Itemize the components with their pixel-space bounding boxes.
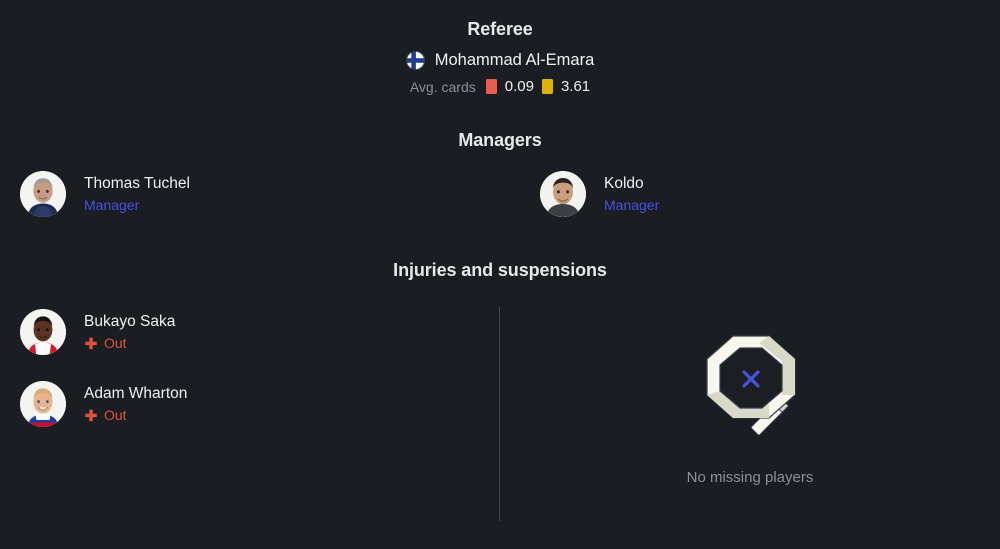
injured-player-name: Bukayo Saka xyxy=(84,312,175,331)
yellow-card-icon xyxy=(542,79,553,94)
injury-cross-icon xyxy=(84,337,98,351)
injured-player-row[interactable]: Bukayo Saka Out xyxy=(20,309,175,355)
injured-player-row[interactable]: Adam Wharton Out xyxy=(20,381,187,427)
avg-cards-label: Avg. cards xyxy=(410,79,476,95)
yellow-card-value: 3.61 xyxy=(561,78,590,95)
injured-player-name: Adam Wharton xyxy=(84,384,187,403)
injured-player-text: Adam Wharton Out xyxy=(84,384,187,424)
no-missing-players-empty-state: No missing players xyxy=(500,305,1000,525)
lineups-info-page: Referee Mohammad Al-Emara Avg. cards 0.0… xyxy=(0,0,1000,549)
manager-away-role[interactable]: Manager xyxy=(604,197,659,214)
injury-cross-icon xyxy=(84,409,98,423)
referee-name-row[interactable]: Mohammad Al-Emara xyxy=(0,51,1000,70)
red-card-icon xyxy=(486,79,497,94)
manager-away-name: Koldo xyxy=(604,174,659,193)
manager-home-text: Thomas Tuchel Manager xyxy=(84,174,190,214)
injured-player-text: Bukayo Saka Out xyxy=(84,312,175,352)
finland-flag-icon xyxy=(406,51,425,70)
referee-name: Mohammad Al-Emara xyxy=(435,51,595,70)
referee-avg-cards-row: Avg. cards 0.09 3.61 xyxy=(0,78,1000,95)
red-card-value: 0.09 xyxy=(505,78,534,95)
injured-player-avatar xyxy=(20,309,66,355)
injured-player-status: Out xyxy=(84,335,175,352)
manager-home-row[interactable]: Thomas Tuchel Manager xyxy=(20,171,190,217)
manager-home-avatar xyxy=(20,171,66,217)
no-missing-players-label: No missing players xyxy=(687,469,814,486)
injured-player-status: Out xyxy=(84,407,187,424)
magnifier-no-results-icon xyxy=(685,331,815,451)
manager-away-text: Koldo Manager xyxy=(604,174,659,214)
referee-section-heading: Referee xyxy=(0,19,1000,40)
injured-player-status-label: Out xyxy=(104,407,127,424)
manager-home-name: Thomas Tuchel xyxy=(84,174,190,193)
injuries-section-heading: Injuries and suspensions xyxy=(0,260,1000,281)
injured-player-avatar xyxy=(20,381,66,427)
manager-away-row[interactable]: Koldo Manager xyxy=(540,171,659,217)
manager-away-avatar xyxy=(540,171,586,217)
managers-section-heading: Managers xyxy=(0,130,1000,151)
manager-home-role[interactable]: Manager xyxy=(84,197,190,214)
injured-player-status-label: Out xyxy=(104,335,127,352)
